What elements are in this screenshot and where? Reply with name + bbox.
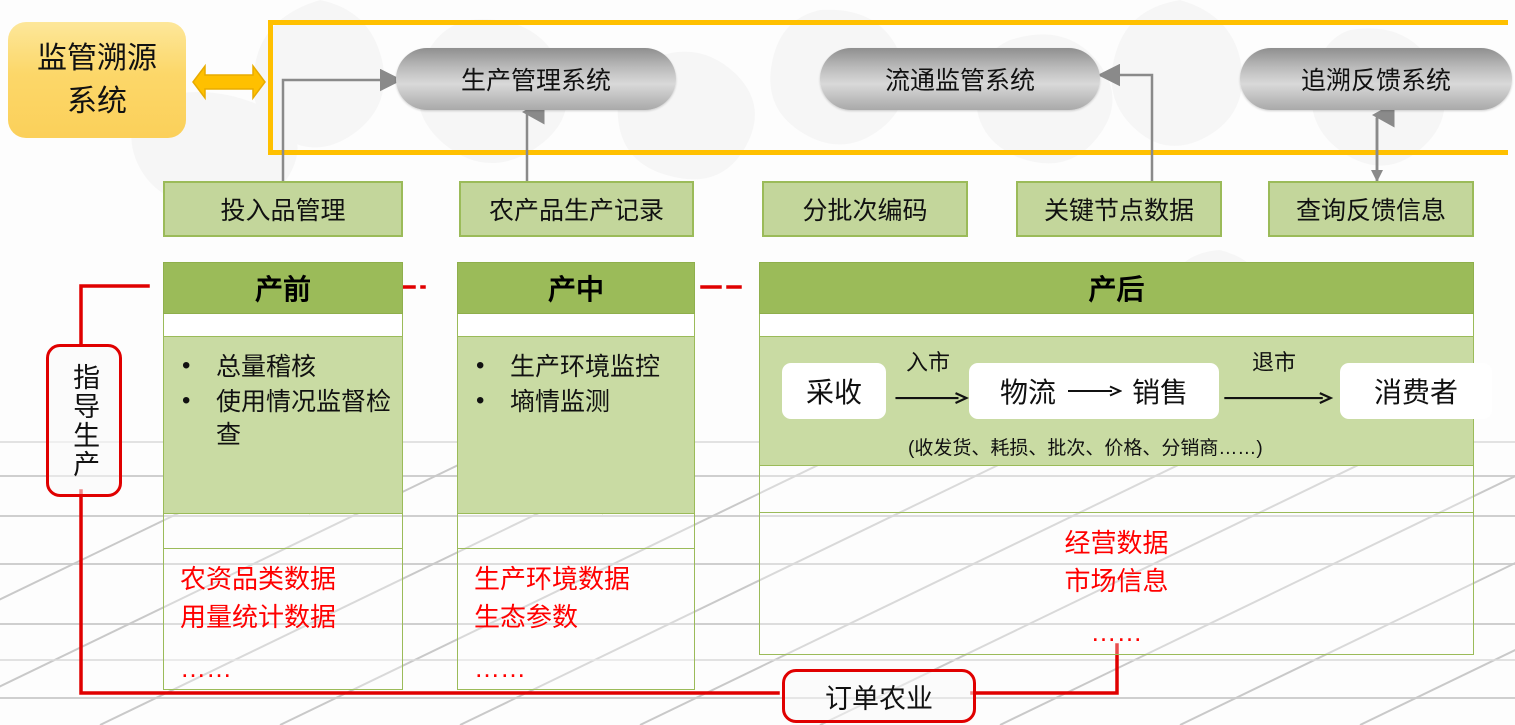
module-box-query-feedback-info[interactable]: 查询反馈信息 (1268, 181, 1474, 237)
data-ellipsis: …… (474, 650, 694, 688)
list-item: 生产环境监控 (504, 351, 688, 384)
stage-panel-mid-production: 产中 生产环境监控 墒情监测 生产环境数据 生态参数 …… (457, 262, 695, 690)
list-item: 总量稽核 (210, 351, 396, 384)
stage-title-pre: 产前 (163, 262, 403, 314)
module-box-label: 投入品管理 (220, 191, 345, 227)
module-box-batch-coding[interactable]: 分批次编码 (762, 181, 968, 237)
regulator-line-1: 监管溯源 (37, 37, 157, 81)
panel-arrow-spacer (759, 466, 1474, 512)
stage-data-pre: 农资品类数据 用量统计数据 …… (163, 548, 403, 690)
system-pill-label: 生产管理系统 (461, 61, 611, 97)
flow-card-logistics-sales[interactable]: 物流 销售 (969, 363, 1219, 419)
module-box-key-node-data[interactable]: 关键节点数据 (1016, 181, 1222, 237)
flow-card-label: 消费者 (1374, 371, 1458, 411)
diagram-canvas: 监管溯源 系统 (0, 0, 1515, 725)
regulator-bidirectional-arrow (193, 66, 265, 98)
module-box-label: 关键节点数据 (1044, 191, 1194, 227)
data-line: 市场信息 (760, 563, 1473, 601)
list-item: 使用情况监督检查 (210, 386, 396, 452)
system-pill-traceability-feedback[interactable]: 追溯反馈系统 (1240, 48, 1512, 110)
regulator-traceability-system-box[interactable]: 监管溯源 系统 (8, 22, 186, 138)
regulator-line-2: 系统 (67, 80, 127, 124)
panel-gap (457, 314, 695, 336)
data-ellipsis: …… (180, 650, 402, 688)
flow-label-market-entry: 入市 (906, 345, 950, 377)
stage-title-mid: 产中 (457, 262, 695, 314)
flow-card-harvest[interactable]: 采收 (782, 363, 886, 419)
flow-card-label-logistics: 物流 (1000, 371, 1056, 411)
system-pill-circulation-supervision[interactable]: 流通监管系统 (820, 48, 1100, 110)
system-pill-production-management[interactable]: 生产管理系统 (396, 48, 676, 110)
stage-body-mid: 生产环境监控 墒情监测 (457, 336, 695, 514)
data-line: 生态参数 (474, 599, 694, 637)
order-agriculture-label: 订单农业 (825, 677, 933, 716)
data-line: 经营数据 (760, 525, 1473, 563)
stage-bullets-pre: 总量稽核 使用情况监督检查 (164, 337, 402, 460)
guide-production-node[interactable]: 指导生产 (46, 344, 122, 497)
stage-data-mid: 生产环境数据 生态参数 …… (457, 548, 695, 690)
flow-card-consumer[interactable]: 消费者 (1340, 363, 1492, 419)
right-arrow-icon (1066, 384, 1122, 398)
module-box-input-material-management[interactable]: 投入品管理 (163, 181, 403, 237)
stage-bullets-mid: 生产环境监控 墒情监测 (458, 337, 694, 427)
stage-data-post: 经营数据 市场信息 …… (759, 512, 1474, 655)
order-agriculture-node[interactable]: 订单农业 (782, 669, 976, 723)
stage-title-post: 产后 (759, 262, 1474, 314)
panel-arrow-spacer (163, 514, 403, 548)
panel-gap (163, 314, 403, 336)
system-pill-label: 流通监管系统 (885, 61, 1035, 97)
data-line: 用量统计数据 (180, 599, 402, 637)
guide-production-label: 指导生产 (69, 363, 99, 479)
data-ellipsis: …… (760, 614, 1473, 652)
module-box-agri-production-record[interactable]: 农产品生产记录 (459, 181, 694, 237)
stage-body-post: 采收 入市 物流 销售 退市 消费者 (759, 336, 1474, 466)
flow-label-market-exit: 退市 (1252, 345, 1296, 377)
list-item: 墒情监测 (504, 386, 688, 419)
data-line: 农资品类数据 (180, 561, 402, 599)
data-line: 生产环境数据 (474, 561, 694, 599)
system-pill-label: 追溯反馈系统 (1301, 61, 1451, 97)
stage-panel-post-production: 产后 采收 入市 物流 销售 退市 消费者 (759, 262, 1474, 655)
module-box-label: 查询反馈信息 (1296, 191, 1446, 227)
flow-note-post: (收发货、耗损、批次、价格、分销商……) (908, 433, 1263, 460)
module-box-label: 农产品生产记录 (489, 191, 664, 227)
panel-arrow-spacer (457, 514, 695, 548)
stage-panel-pre-production: 产前 总量稽核 使用情况监督检查 农资品类数据 用量统计数据 …… (163, 262, 403, 690)
flow-card-label: 采收 (806, 371, 862, 411)
module-box-label: 分批次编码 (802, 191, 927, 227)
flow-card-label-sales: 销售 (1132, 371, 1188, 411)
stage-body-pre: 总量稽核 使用情况监督检查 (163, 336, 403, 514)
panel-gap (759, 314, 1474, 336)
